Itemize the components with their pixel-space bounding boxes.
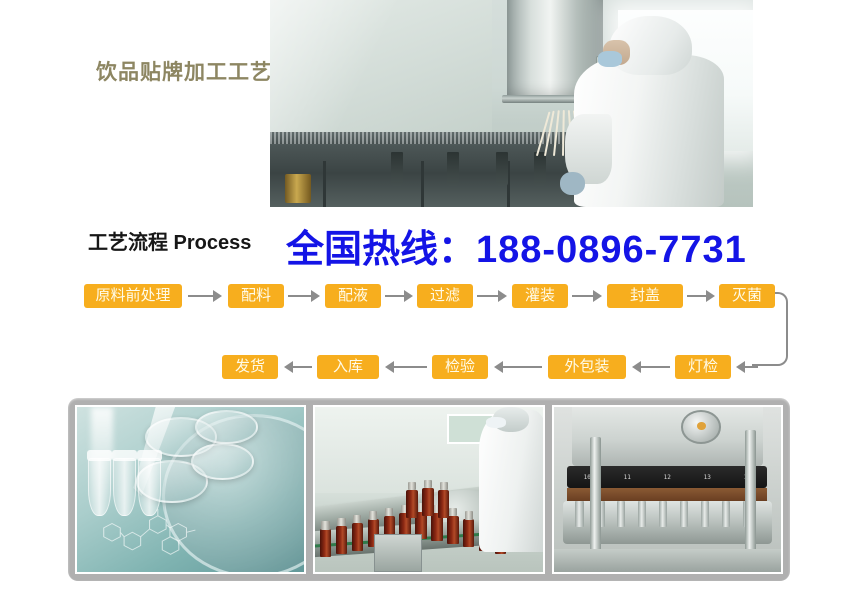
poster-root: 饮品贴牌加工工艺 工艺流程 Process 全国热线：188-0896-7731… — [0, 0, 853, 601]
process-section-label: 工艺流程 Process — [88, 226, 251, 255]
flow-arrow-right-row1-5 — [687, 288, 715, 304]
flow-node-row2-1[interactable]: 入库 — [317, 355, 379, 379]
hotline-prefix: 全国热线： — [286, 229, 476, 271]
flow-node-row1-5[interactable]: 封盖 — [607, 284, 683, 308]
photo-gallery: 1011121314 — [68, 398, 790, 581]
flow-arrow-left-connector — [736, 359, 758, 375]
flow-arrow-left-row2-0 — [284, 359, 312, 375]
hotline-number: 188-0896-7731 — [476, 229, 747, 271]
hero-photo — [270, 0, 753, 207]
press-scale-tick: 13 — [704, 474, 711, 481]
pressure-gauge — [681, 410, 721, 444]
flow-arrow-right-row1-3 — [477, 288, 507, 304]
flow-arrow-left-row2-3 — [632, 359, 670, 375]
bottling-line-photo — [313, 405, 544, 574]
laboratory-petri-dishes-photo — [75, 405, 306, 574]
flow-arrow-left-row2-2 — [494, 359, 542, 375]
page-title: 饮品贴牌加工工艺 — [96, 56, 272, 86]
flow-node-row1-4[interactable]: 灌装 — [512, 284, 568, 308]
operator-figure — [565, 12, 724, 207]
flow-arrow-right-row1-1 — [288, 288, 320, 304]
rotary-tablet-press-photo: 1011121314 — [552, 405, 783, 574]
flow-node-row2-3[interactable]: 外包装 — [548, 355, 626, 379]
flow-node-row1-0[interactable]: 原料前处理 — [84, 284, 182, 308]
flow-node-row1-3[interactable]: 过滤 — [417, 284, 473, 308]
wall-panel — [270, 0, 492, 145]
flow-arrow-right-row1-2 — [385, 288, 413, 304]
flow-arrow-right-row1-0 — [188, 288, 222, 304]
flow-node-row1-2[interactable]: 配液 — [325, 284, 381, 308]
labeling-machine — [374, 534, 421, 572]
flow-node-row1-6[interactable]: 灭菌 — [719, 284, 775, 308]
flow-node-row2-4[interactable]: 灯检 — [675, 355, 731, 379]
press-scale-tick: 11 — [624, 474, 631, 481]
brass-fitting — [285, 174, 311, 202]
molecule-diagram — [91, 496, 218, 562]
flow-arrow-left-row2-1 — [385, 359, 427, 375]
flow-node-row1-1[interactable]: 配料 — [228, 284, 284, 308]
hotline-banner: 全国热线：188-0896-7731 — [286, 218, 747, 273]
flow-arrow-right-row1-4 — [572, 288, 602, 304]
flow-node-row2-0[interactable]: 发货 — [222, 355, 278, 379]
press-scale-tick: 12 — [664, 474, 671, 481]
flow-node-row2-2[interactable]: 检验 — [432, 355, 488, 379]
